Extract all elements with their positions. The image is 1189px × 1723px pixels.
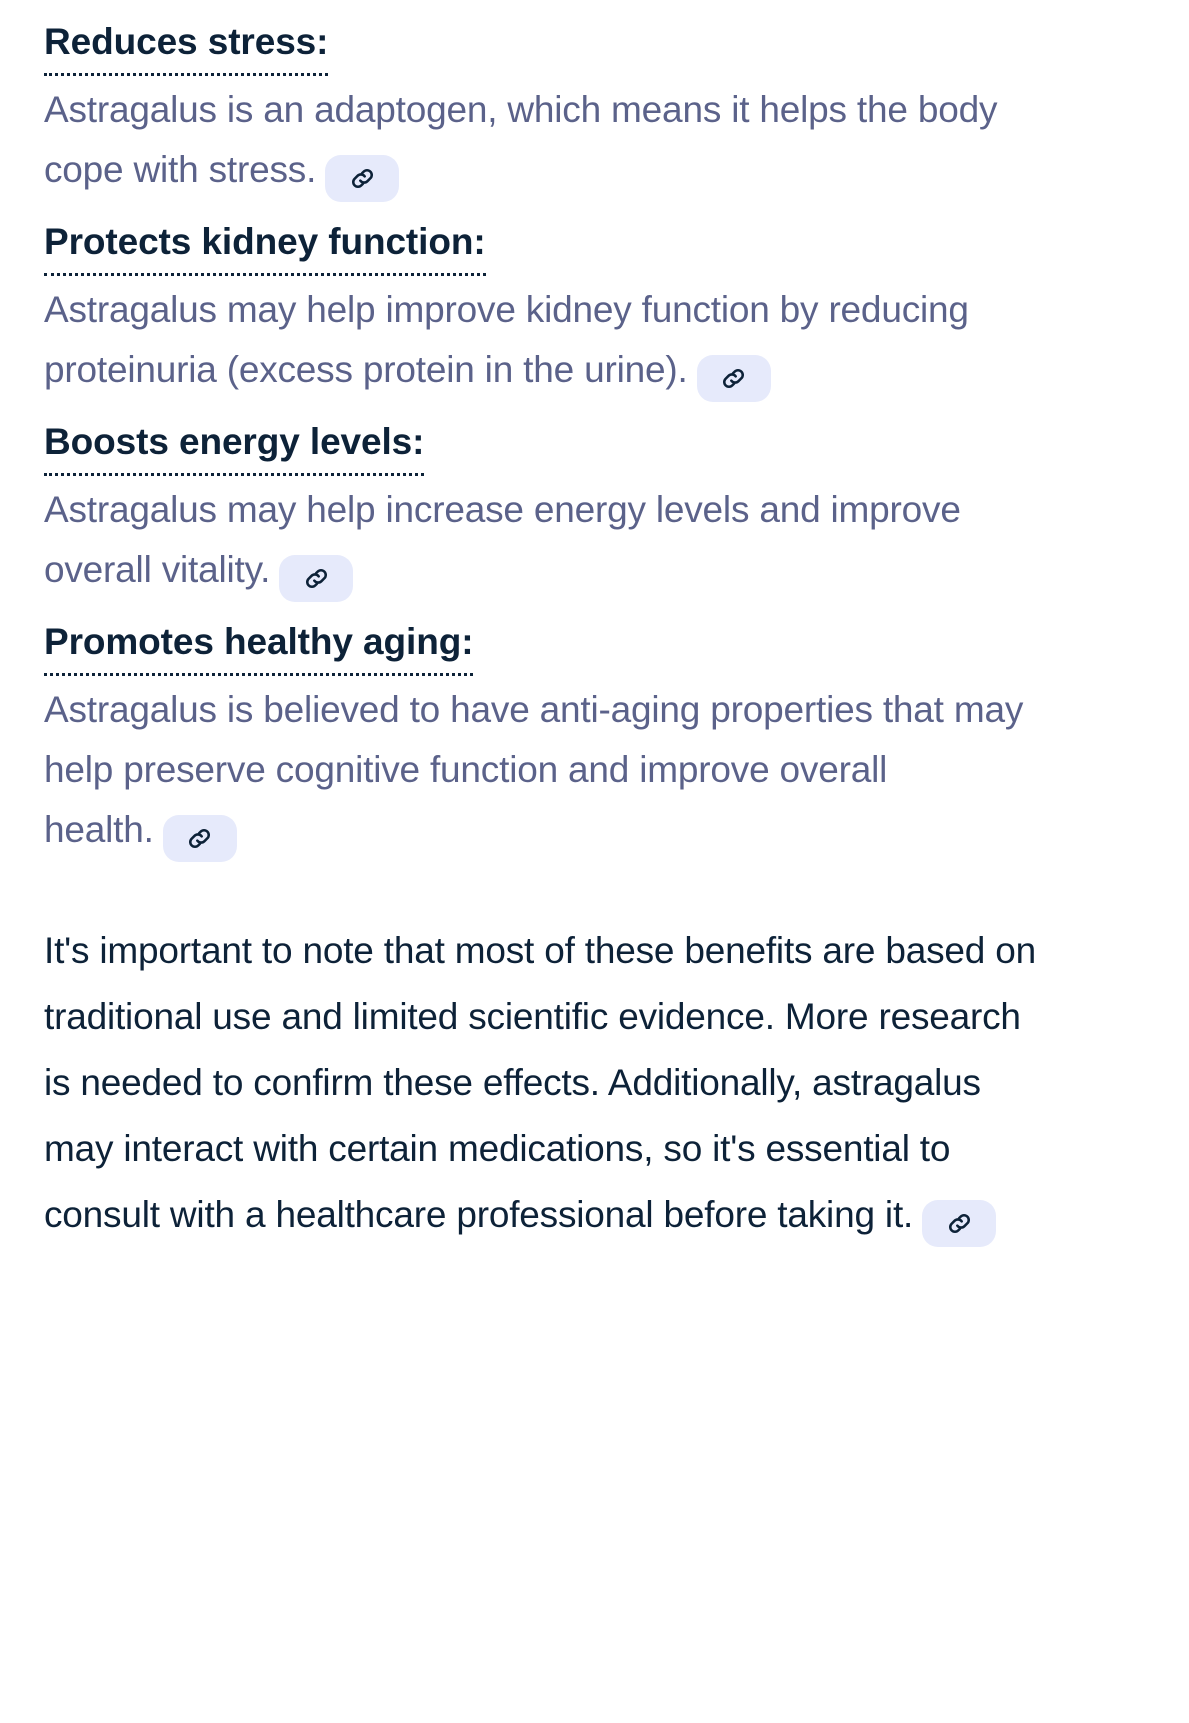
benefit-heading-promotes-healthy-aging: Promotes healthy aging: [44, 612, 473, 676]
benefit-body-reduces-stress: Astragalus is an adaptogen, which means … [44, 80, 1054, 202]
link-icon[interactable] [279, 555, 353, 602]
closing-paragraph-text-tail: it. [885, 1194, 913, 1235]
benefit-heading-boosts-energy-levels: Boosts energy levels: [44, 412, 424, 476]
benefit-body-promotes-healthy-aging: Astragalus is believed to have anti-agin… [44, 680, 1054, 862]
benefit-heading-protects-kidney-function: Protects kidney function: [44, 212, 486, 276]
benefit-block: Protects kidney function: Astragalus may… [44, 212, 1145, 402]
benefit-body-protects-kidney-function: Astragalus may help improve kidney funct… [44, 280, 1054, 402]
closing-paragraph-text: It's important to note that most of thes… [44, 930, 1036, 1235]
benefit-body-text: Astragalus is an adaptogen, which means … [44, 89, 997, 190]
benefit-body-boosts-energy-levels: Astragalus may help increase energy leve… [44, 480, 1054, 602]
benefit-block: Promotes healthy aging: Astragalus is be… [44, 612, 1145, 862]
benefit-body-text-tail: urine). [584, 349, 687, 390]
benefit-body-text-tail: vitality. [162, 549, 271, 590]
closing-block: It's important to note that most of thes… [44, 918, 1145, 1248]
benefit-heading-row: Promotes healthy aging: [44, 612, 1145, 676]
link-icon[interactable] [697, 355, 771, 402]
benefit-heading-row: Boosts energy levels: [44, 412, 1145, 476]
benefit-body-text: Astragalus is believed to have anti-agin… [44, 689, 1023, 790]
link-icon[interactable] [163, 815, 237, 862]
benefit-body-text-tail: stress. [209, 149, 317, 190]
benefit-block: Reduces stress: Astragalus is an adaptog… [44, 12, 1145, 202]
benefit-body-text: Astragalus may help improve kidney funct… [44, 289, 969, 390]
link-icon[interactable] [325, 155, 399, 202]
benefit-body-text-tail: health. [44, 809, 154, 850]
benefit-heading-reduces-stress: Reduces stress: [44, 12, 328, 76]
benefit-heading-row: Protects kidney function: [44, 212, 1145, 276]
answer-panel: Reduces stress: Astragalus is an adaptog… [0, 0, 1189, 1723]
benefit-block: Boosts energy levels: Astragalus may hel… [44, 412, 1145, 602]
benefit-heading-row: Reduces stress: [44, 12, 1145, 76]
link-icon[interactable] [922, 1200, 996, 1247]
closing-paragraph: It's important to note that most of thes… [44, 918, 1049, 1248]
